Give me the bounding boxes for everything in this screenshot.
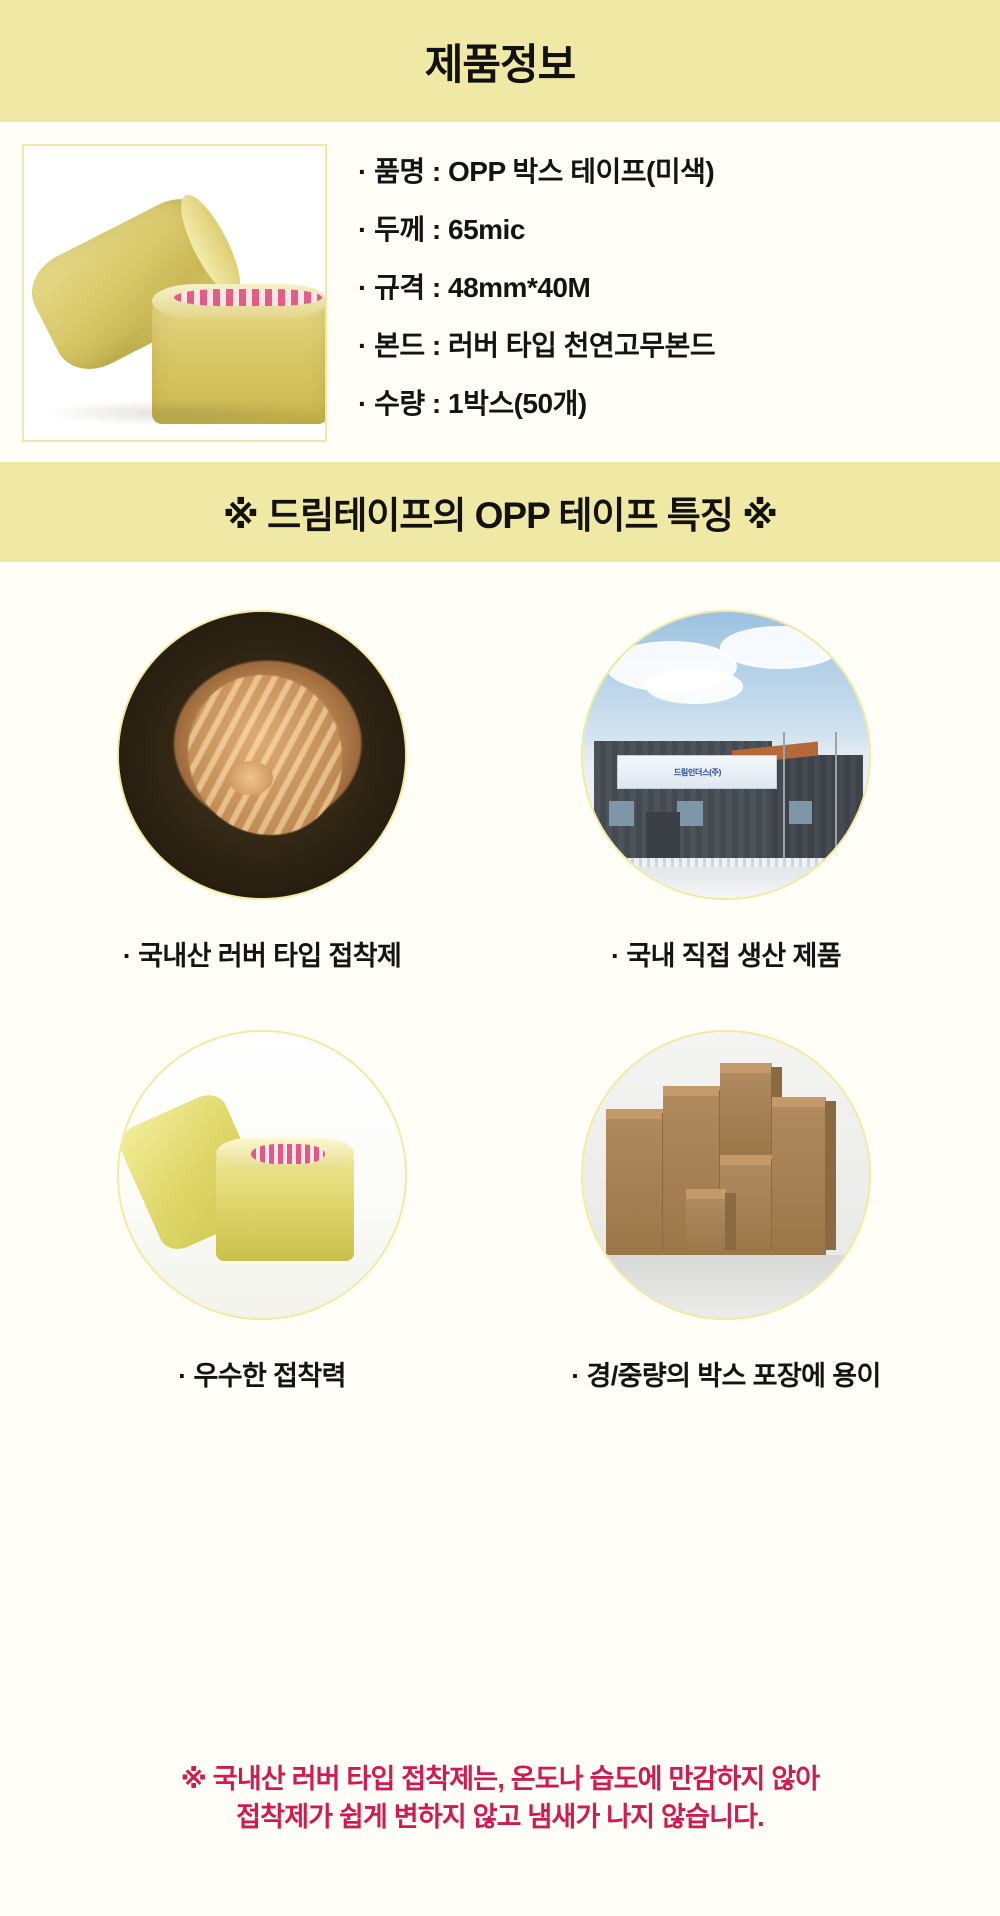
photo-shadow [42,400,312,426]
page-title: 제품정보 [425,31,576,92]
spec-item-thickness: · 두께 : 65mic [358,216,958,244]
feature-cell-domestic-adhesive: · 국내산 러버 타입 접착제 [52,610,472,973]
product-detail-page: 제품정보 · 품명 : OPP 박스 테이프(미색) · 두께 : 65mic … [0,0,1000,1916]
feature-caption-2: · 국내 직접 생산 제품 [516,934,936,973]
feature-cell-domestic-production: 드림인더스(주) · 국내 직접 생산 제품 [516,610,936,973]
tape-roll-closeup-photo [117,1030,407,1320]
cardboard-boxes-photo [581,1030,871,1320]
spec-item-bond: · 본드 : 러버 타입 천연고무본드 [358,332,958,360]
specification-list: · 품명 : OPP 박스 테이프(미색) · 두께 : 65mic · 규격 … [358,158,958,448]
tape-core-label [174,289,322,306]
features-band: ※ 드림테이프의 OPP 테이프 특징 ※ [0,462,1000,562]
footer-line-2: 접착제가 쉽게 변하지 않고 냄새가 나지 않습니다. [0,1798,1000,1836]
product-info-band: 제품정보 [0,0,1000,122]
utility-pole [783,732,785,869]
factory-window [677,801,703,827]
feature-cell-adhesion: · 우수한 접착력 [52,1030,472,1393]
factory-window [609,801,635,827]
cardboard-box [686,1198,726,1255]
cardboard-box [772,1106,826,1255]
feature-row-2: · 우수한 접착력 · 경/중량의 박스 포장에 용이 [0,1030,1000,1590]
factory-ground [583,867,869,898]
factory-door [646,812,680,858]
spec-item-name: · 품명 : OPP 박스 테이프(미색) [358,158,958,186]
features-title: ※ 드림테이프의 OPP 테이프 특징 ※ [223,485,777,539]
factory-sign: 드림인더스(주) [617,755,777,789]
feature-caption-4: · 경/중량의 박스 포장에 용이 [516,1354,936,1393]
factory-window [789,801,812,824]
spec-item-quantity: · 수량 : 1박스(50개) [358,390,958,418]
feature-cell-box-packing: · 경/중량의 박스 포장에 용이 [516,1030,936,1393]
factory-right-building [766,755,863,861]
footer-note: ※ 국내산 러버 타입 접착제는, 온도나 습도에 만감하지 않아 접착제가 쉽… [0,1760,1000,1837]
factory-fence [583,858,869,867]
floor [583,1255,869,1318]
cloud-icon [646,669,743,703]
cardboard-box [720,1072,771,1158]
footer-line-1: ※ 국내산 러버 타입 접착제는, 온도나 습도에 만감하지 않아 [0,1760,1000,1798]
factory-sign-text: 드림인더스(주) [674,767,721,778]
feature-caption-1: · 국내산 러버 타입 접착제 [52,934,472,973]
spec-item-size: · 규격 : 48mm*40M [358,274,958,302]
product-photo [22,144,327,442]
cardboard-box [606,1118,663,1255]
utility-pole [835,732,837,869]
feature-caption-3: · 우수한 접착력 [52,1354,472,1393]
cloud-icon [720,626,840,669]
tape-core-label [251,1144,325,1164]
features-section: · 국내산 러버 타입 접착제 드림인더스(주) [0,562,1000,1742]
rubber-tree-tapping-photo [117,610,407,900]
factory-building-photo: 드림인더스(주) [581,610,871,900]
product-info-section: · 품명 : OPP 박스 테이프(미색) · 두께 : 65mic · 규격 … [0,122,1000,462]
